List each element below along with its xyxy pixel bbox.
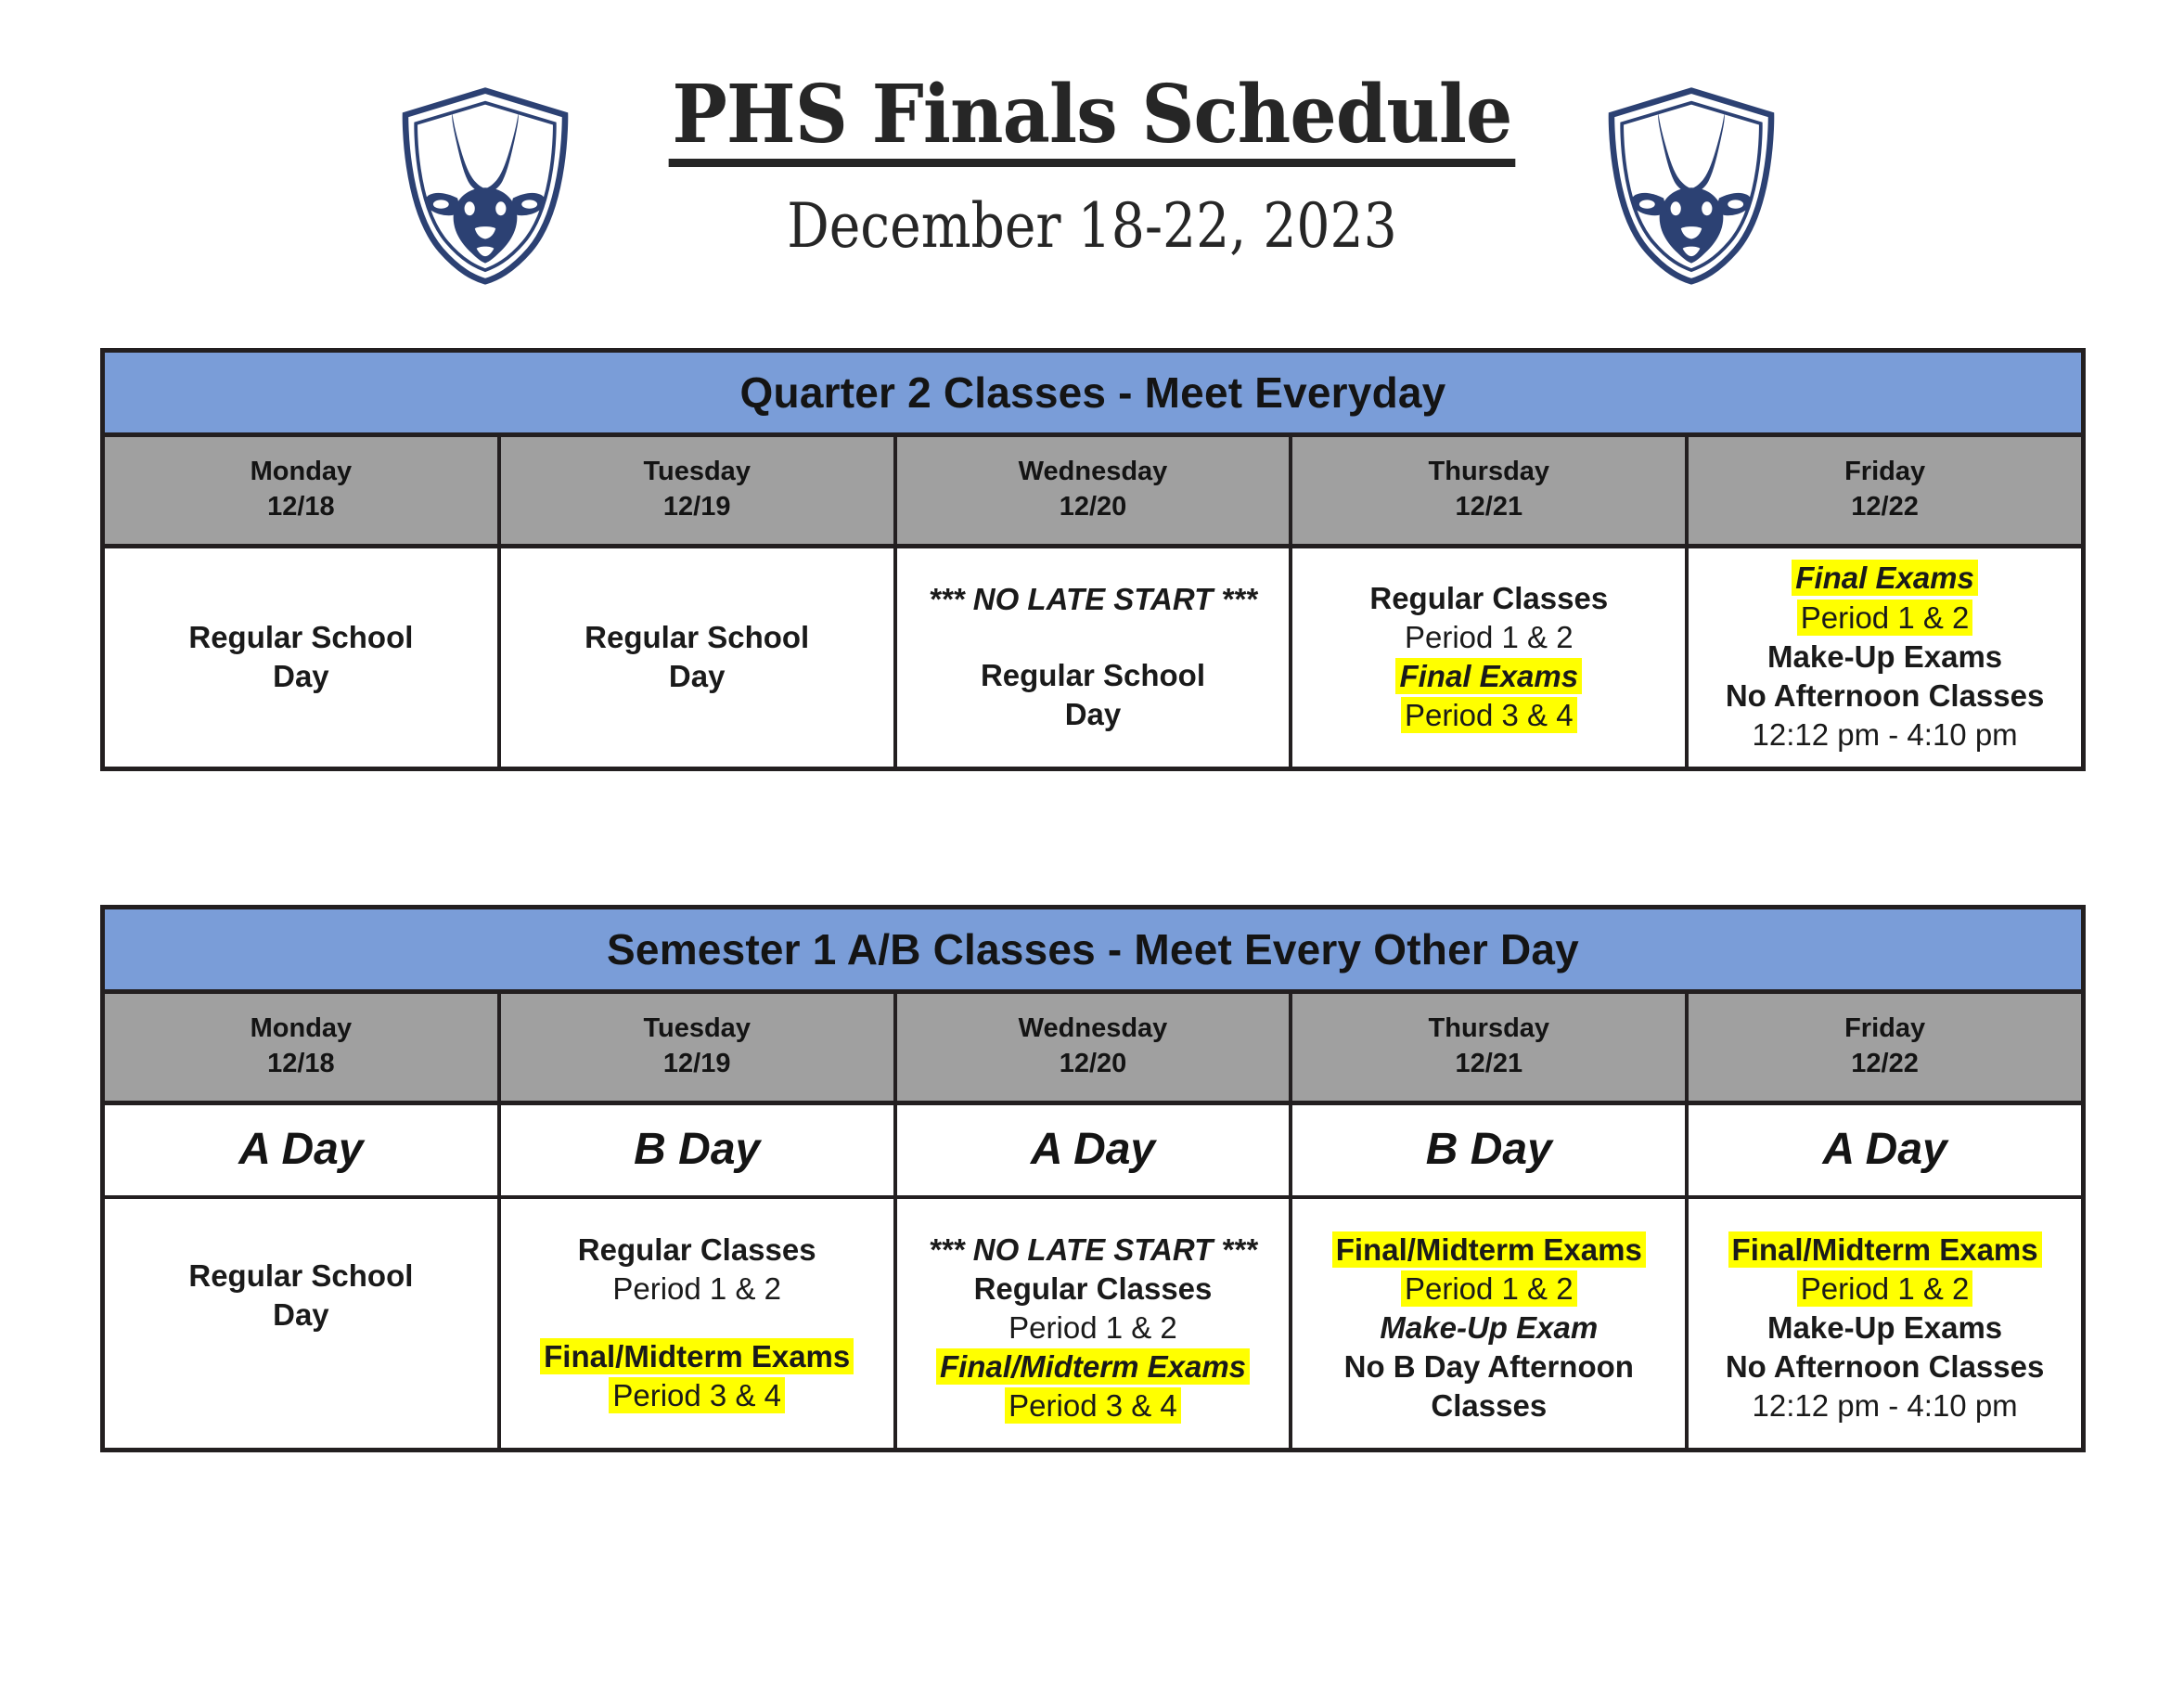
- day-header-wednesday: Wednesday 12/20: [897, 994, 1293, 1101]
- day-date: 12/22: [1694, 489, 2075, 524]
- schedule-cell-s1-friday: Final/Midterm Exams Period 1 & 2 Make-Up…: [1689, 1199, 2081, 1448]
- day-date: 12/19: [507, 1046, 888, 1081]
- schedule-cell-q2-wednesday: *** NO LATE START *** Regular School Day: [897, 548, 1293, 767]
- no-late-start-note: *** NO LATE START ***: [908, 580, 1278, 619]
- highlighted-exam-line: Final Exams: [1304, 657, 1674, 696]
- day-date: 12/18: [110, 489, 492, 524]
- day-date: 12/19: [507, 489, 888, 524]
- schedule-cell-q2-thursday: Regular Classes Period 1 & 2 Final Exams…: [1292, 548, 1689, 767]
- cell-line: Period 1 & 2: [1304, 618, 1674, 657]
- highlighted-period-line: Period 1 & 2: [1700, 599, 2070, 638]
- phs-impala-shield-logo-right: [1603, 85, 1779, 285]
- highlighted-exam-line: Final/Midterm Exams: [1304, 1231, 1674, 1270]
- day-name: Friday: [1694, 454, 2075, 489]
- day-header-wednesday: Wednesday 12/20: [897, 437, 1293, 544]
- cell-line: Day: [116, 1296, 486, 1334]
- semester-1-schedule-row: Regular School Day Regular Classes Perio…: [105, 1199, 2081, 1448]
- day-date: 12/20: [903, 489, 1284, 524]
- day-name: Tuesday: [507, 1011, 888, 1046]
- quarter-2-schedule-row: Regular School Day Regular School Day **…: [105, 548, 2081, 767]
- highlighted-period-line: Period 3 & 4: [1304, 696, 1674, 735]
- cell-line: Regular Classes: [908, 1270, 1278, 1309]
- cell-line: Period 1 & 2: [512, 1270, 882, 1309]
- cell-line: Make-Up Exams: [1700, 1309, 2070, 1347]
- cell-line: Regular School: [908, 656, 1278, 695]
- ab-day-thursday: B Day: [1292, 1105, 1689, 1195]
- schedule-cell-s1-monday: Regular School Day: [105, 1199, 501, 1448]
- make-up-exam-line: Make-Up Exam: [1304, 1309, 1674, 1347]
- quarter-2-day-header-row: Monday 12/18 Tuesday 12/19 Wednesday 12/…: [105, 437, 2081, 548]
- cell-line: Day: [908, 695, 1278, 734]
- page-header: PHS Finals Schedule December 18-22, 2023: [0, 0, 2184, 325]
- cell-line: No Afternoon Classes: [1700, 1347, 2070, 1386]
- ab-day-tuesday: B Day: [501, 1105, 897, 1195]
- day-name: Wednesday: [903, 454, 1284, 489]
- ab-day-wednesday: A Day: [897, 1105, 1293, 1195]
- semester-1-band-title: Semester 1 A/B Classes - Meet Every Othe…: [105, 909, 2081, 994]
- schedule-cell-q2-monday: Regular School Day: [105, 548, 501, 767]
- cell-line: Day: [116, 657, 486, 696]
- schedule-cell-s1-tuesday: Regular Classes Period 1 & 2 Final/Midte…: [501, 1199, 897, 1448]
- schedule-cell-s1-wednesday: *** NO LATE START *** Regular Classes Pe…: [897, 1199, 1293, 1448]
- day-date: 12/21: [1298, 1046, 1679, 1081]
- ab-day-row: A Day B Day A Day B Day A Day: [105, 1105, 2081, 1199]
- cell-line: Classes: [1304, 1386, 1674, 1425]
- semester-1-ab-schedule-table: Semester 1 A/B Classes - Meet Every Othe…: [100, 905, 2086, 1452]
- day-header-friday: Friday 12/22: [1689, 994, 2081, 1101]
- highlighted-period-line: Period 1 & 2: [1700, 1270, 2070, 1309]
- cell-line: No B Day Afternoon: [1304, 1347, 1674, 1386]
- day-header-thursday: Thursday 12/21: [1292, 437, 1689, 544]
- page-title: PHS Finals Schedule: [669, 72, 1515, 167]
- highlighted-exam-line: Final/Midterm Exams: [908, 1347, 1278, 1386]
- schedule-cell-q2-friday: Final Exams Period 1 & 2 Make-Up Exams N…: [1689, 548, 2081, 767]
- ab-day-monday: A Day: [105, 1105, 501, 1195]
- day-name: Monday: [110, 1011, 492, 1046]
- day-name: Thursday: [1298, 1011, 1679, 1046]
- highlighted-exam-line: Final/Midterm Exams: [512, 1337, 882, 1376]
- day-header-monday: Monday 12/18: [105, 994, 501, 1101]
- day-date: 12/21: [1298, 489, 1679, 524]
- day-name: Friday: [1694, 1011, 2075, 1046]
- cell-time-line: 12:12 pm - 4:10 pm: [1700, 1386, 2070, 1425]
- cell-line: Regular Classes: [1304, 579, 1674, 618]
- day-date: 12/18: [110, 1046, 492, 1081]
- cell-line: Regular School: [116, 618, 486, 657]
- day-header-friday: Friday 12/22: [1689, 437, 2081, 544]
- day-header-thursday: Thursday 12/21: [1292, 994, 1689, 1101]
- day-header-monday: Monday 12/18: [105, 437, 501, 544]
- cell-line: Regular School: [116, 1257, 486, 1296]
- day-date: 12/22: [1694, 1046, 2075, 1081]
- day-name: Wednesday: [903, 1011, 1284, 1046]
- day-header-tuesday: Tuesday 12/19: [501, 994, 897, 1101]
- ab-day-friday: A Day: [1689, 1105, 2081, 1195]
- cell-time-line: 12:12 pm - 4:10 pm: [1700, 716, 2070, 754]
- quarter-2-band-title: Quarter 2 Classes - Meet Everyday: [105, 353, 2081, 437]
- cell-line: Regular School: [512, 618, 882, 657]
- cell-line: Make-Up Exams: [1700, 638, 2070, 677]
- day-name: Thursday: [1298, 454, 1679, 489]
- highlighted-period-line: Period 3 & 4: [512, 1376, 882, 1415]
- cell-line: Regular Classes: [512, 1231, 882, 1270]
- highlighted-period-line: Period 3 & 4: [908, 1386, 1278, 1425]
- highlighted-period-line: Period 1 & 2: [1304, 1270, 1674, 1309]
- day-header-tuesday: Tuesday 12/19: [501, 437, 897, 544]
- title-block: PHS Finals Schedule December 18-22, 2023: [0, 72, 2184, 261]
- cell-line: Period 1 & 2: [908, 1309, 1278, 1347]
- highlighted-exam-line: Final/Midterm Exams: [1700, 1231, 2070, 1270]
- semester-1-day-header-row: Monday 12/18 Tuesday 12/19 Wednesday 12/…: [105, 994, 2081, 1105]
- schedule-cell-s1-thursday: Final/Midterm Exams Period 1 & 2 Make-Up…: [1292, 1199, 1689, 1448]
- highlighted-exam-line: Final Exams: [1700, 559, 2070, 598]
- day-name: Tuesday: [507, 454, 888, 489]
- cell-line: No Afternoon Classes: [1700, 677, 2070, 716]
- schedule-cell-q2-tuesday: Regular School Day: [501, 548, 897, 767]
- cell-line: Day: [512, 657, 882, 696]
- day-date: 12/20: [903, 1046, 1284, 1081]
- quarter-2-schedule-table: Quarter 2 Classes - Meet Everyday Monday…: [100, 348, 2086, 771]
- no-late-start-note: *** NO LATE START ***: [908, 1231, 1278, 1270]
- day-name: Monday: [110, 454, 492, 489]
